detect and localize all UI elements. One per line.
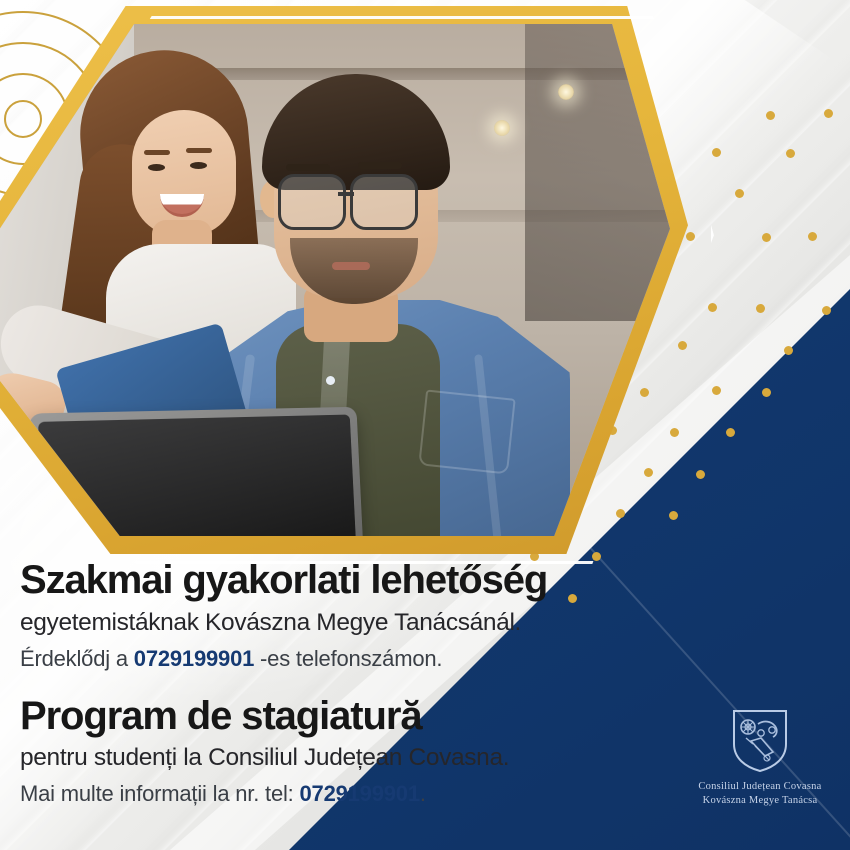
phone-suffix-romanian: .: [420, 781, 426, 806]
gold-dot-1: [824, 109, 833, 118]
gold-dot-3: [786, 149, 795, 158]
gold-dot-15: [822, 306, 831, 315]
gold-dot-5: [735, 189, 744, 198]
hungarian-text-block: Szakmai gyakorlati lehetőség egyetemistá…: [20, 560, 670, 672]
gold-dot-20: [762, 388, 771, 397]
gold-dot-23: [726, 428, 735, 437]
phone-prefix-romanian: Mai multe informații la nr. tel:: [20, 781, 300, 806]
subline-hungarian: egyetemistáknak Kovászna Megye Tanácsáná…: [20, 609, 670, 638]
phone-suffix-hungarian: -es telefonszámon.: [254, 646, 442, 671]
phone-number-romanian[interactable]: 0729199901: [300, 781, 420, 806]
headline-hungarian: Szakmai gyakorlati lehetőség: [20, 560, 670, 602]
phone-line-hungarian: Érdeklődj a 0729199901 -es telefonszámon…: [20, 646, 670, 672]
romanian-text-block: Program de stagiatură pentru studenți la…: [20, 696, 670, 808]
logo-text-hungarian: Kovászna Megye Tanácsa: [686, 794, 834, 808]
hexagon-white-outline-echo: [0, 16, 714, 564]
gold-dot-12: [708, 303, 717, 312]
poster-root: Szakmai gyakorlati lehetőség egyetemistá…: [0, 0, 850, 850]
subline-romanian: pentru studenți la Consiliul Județean Co…: [20, 744, 670, 773]
county-council-logo: Consiliul Județean Covasna Kovászna Megy…: [686, 708, 834, 808]
phone-number-hungarian[interactable]: 0729199901: [134, 646, 254, 671]
text-content-block: Szakmai gyakorlati lehetőség egyetemistá…: [20, 560, 670, 808]
gold-dot-4: [712, 148, 721, 157]
phone-line-romanian: Mai multe informații la nr. tel: 0729199…: [20, 781, 670, 807]
phone-prefix-hungarian: Érdeklődj a: [20, 646, 134, 671]
gold-dot-13: [756, 304, 765, 313]
gold-dot-10: [808, 232, 817, 241]
gold-dot-14: [784, 346, 793, 355]
headline-romanian: Program de stagiatură: [20, 696, 670, 738]
gold-dot-6: [762, 233, 771, 242]
gold-dot-2: [766, 111, 775, 120]
hexagon-white-outline: [0, 16, 714, 564]
logo-text-romanian: Consiliul Județean Covasna: [686, 780, 834, 794]
gold-dot-19: [712, 386, 721, 395]
gold-dot-26: [696, 470, 705, 479]
coat-of-arms-shield-icon: [731, 708, 789, 774]
